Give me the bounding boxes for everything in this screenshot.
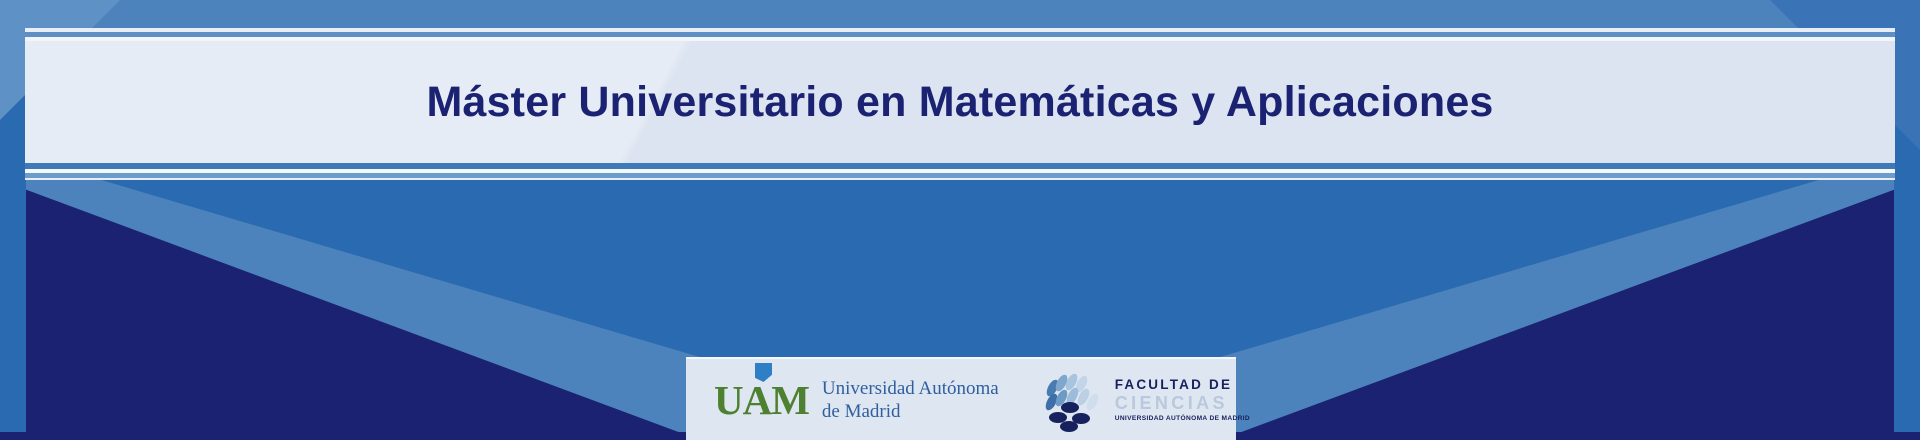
faculty-logo: FACULTAD DE CIENCIAS UNIVERSIDAD AUTÓNOM… bbox=[1047, 373, 1250, 429]
uam-monogram-text: UAM bbox=[714, 377, 809, 423]
plate-rule-edge-bottom bbox=[25, 178, 1895, 180]
page-title: Máster Universitario en Matemáticas y Ap… bbox=[25, 41, 1895, 163]
uam-monogram: UAM bbox=[714, 380, 809, 421]
logo-panel: UAM Universidad Autónoma de Madrid FACUL… bbox=[686, 357, 1236, 440]
faculty-cluster-icon bbox=[1047, 373, 1101, 429]
uam-logo: UAM Universidad Autónoma de Madrid bbox=[714, 378, 999, 423]
faculty-wordmark: FACULTAD DE CIENCIAS UNIVERSIDAD AUTÓNOM… bbox=[1115, 378, 1250, 422]
title-plate: Máster Universitario en Matemáticas y Ap… bbox=[25, 28, 1895, 180]
uam-wordmark: Universidad Autónoma de Madrid bbox=[822, 378, 999, 423]
banner-root: Máster Universitario en Matemáticas y Ap… bbox=[0, 0, 1920, 440]
faculty-wordmark-line2: CIENCIAS bbox=[1115, 394, 1250, 412]
faculty-wordmark-line1: FACULTAD DE bbox=[1115, 378, 1250, 392]
uam-wordmark-line2: de Madrid bbox=[822, 401, 999, 423]
uam-wordmark-line1: Universidad Autónoma bbox=[822, 378, 999, 400]
faculty-wordmark-line3: UNIVERSIDAD AUTÓNOMA DE MADRID bbox=[1115, 416, 1250, 423]
